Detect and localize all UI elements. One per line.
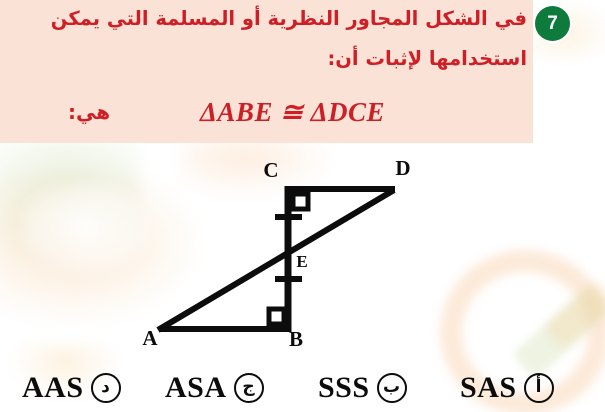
congruence-statement: ΔABE ≅ ΔDCE	[200, 97, 385, 128]
answer-option-sss-marker-letter: ب	[383, 379, 400, 396]
answer-option-sas-marker[interactable]: أ	[524, 373, 554, 403]
vertex-label-b: B	[289, 327, 303, 351]
vertex-label-d: D	[395, 156, 410, 180]
right-angle-mark-b	[269, 309, 284, 324]
vertex-label-e: E	[296, 252, 307, 271]
answer-option-sas[interactable]: SAS أ	[460, 366, 554, 410]
answer-option-sas-marker-letter: أ	[536, 379, 542, 396]
answer-option-aas-label: AAS	[22, 371, 84, 405]
question-stem-line-1: في الشكل المجاور النظرية أو المسلمة التي…	[51, 7, 527, 30]
geometry-figure: C D E A B	[110, 150, 450, 360]
question-page: في الشكل المجاور النظرية أو المسلمة التي…	[0, 0, 605, 412]
answer-option-aas-marker-letter: د	[101, 379, 110, 396]
vertex-label-c: C	[263, 158, 278, 182]
vertex-label-a: A	[142, 326, 158, 350]
answer-option-asa[interactable]: ASA ج	[165, 366, 264, 410]
answer-option-sss-marker[interactable]: ب	[377, 373, 407, 403]
answer-option-asa-marker[interactable]: ج	[234, 373, 264, 403]
answer-option-sss-label: SSS	[318, 371, 370, 405]
right-angle-mark-c	[293, 194, 308, 209]
question-number-badge: 7	[535, 6, 570, 41]
answer-option-asa-marker-letter: ج	[242, 379, 254, 396]
answer-option-asa-label: ASA	[165, 371, 227, 405]
answer-option-sss[interactable]: SSS ب	[318, 366, 407, 410]
question-stem-line-2: استخدامها لإثبات أن:	[327, 47, 527, 70]
question-number-text: 7	[547, 14, 558, 33]
answer-option-aas[interactable]: AAS د	[22, 366, 121, 410]
answer-options-row: AAS د ASA ج SSS ب SAS أ	[0, 366, 605, 412]
answer-option-sas-label: SAS	[460, 371, 517, 405]
answer-option-aas-marker[interactable]: د	[91, 373, 121, 403]
question-stem-banner: في الشكل المجاور النظرية أو المسلمة التي…	[0, 0, 533, 143]
geometry-figure-svg: C D E A B	[110, 150, 450, 360]
question-trailing-word: هي:	[68, 100, 110, 124]
congruence-statement-row: ΔABE ≅ ΔDCE هي:	[0, 95, 533, 141]
watermark-right-bar-secondary	[544, 280, 605, 349]
